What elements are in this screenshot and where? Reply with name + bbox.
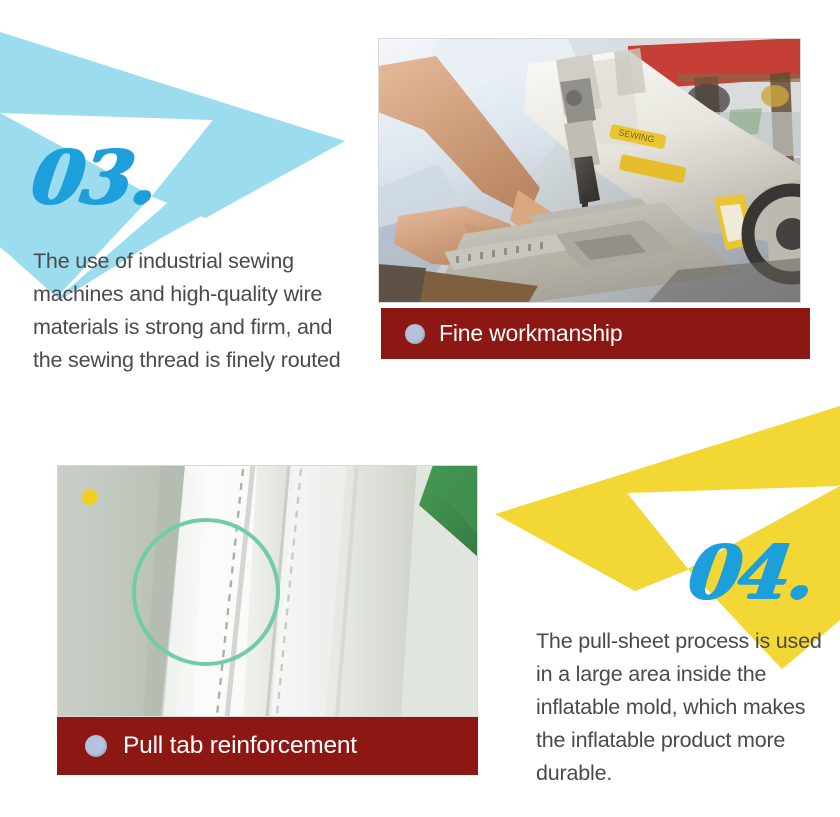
bullet-dot-icon [85, 735, 107, 757]
step-body-text-04: The pull-sheet process is used in a larg… [536, 625, 836, 790]
caption-label: Fine workmanship [439, 320, 622, 347]
caption-label: Pull tab reinforcement [123, 732, 357, 760]
caption-bar-pull-tab-reinforcement: Pull tab reinforcement [57, 717, 478, 775]
pull-tab-fabric-photo [57, 465, 478, 717]
industrial-sewing-machine-photo: SEWING [378, 38, 801, 303]
infographic-page: 03. The use of industrial sewing machine… [0, 0, 840, 817]
step-number-03: 03. [28, 141, 161, 215]
bullet-dot-icon [405, 324, 425, 344]
step-body-text-03: The use of industrial sewing machines an… [33, 245, 363, 377]
step-number-04: 04. [685, 536, 818, 610]
caption-bar-fine-workmanship: Fine workmanship [381, 308, 810, 359]
